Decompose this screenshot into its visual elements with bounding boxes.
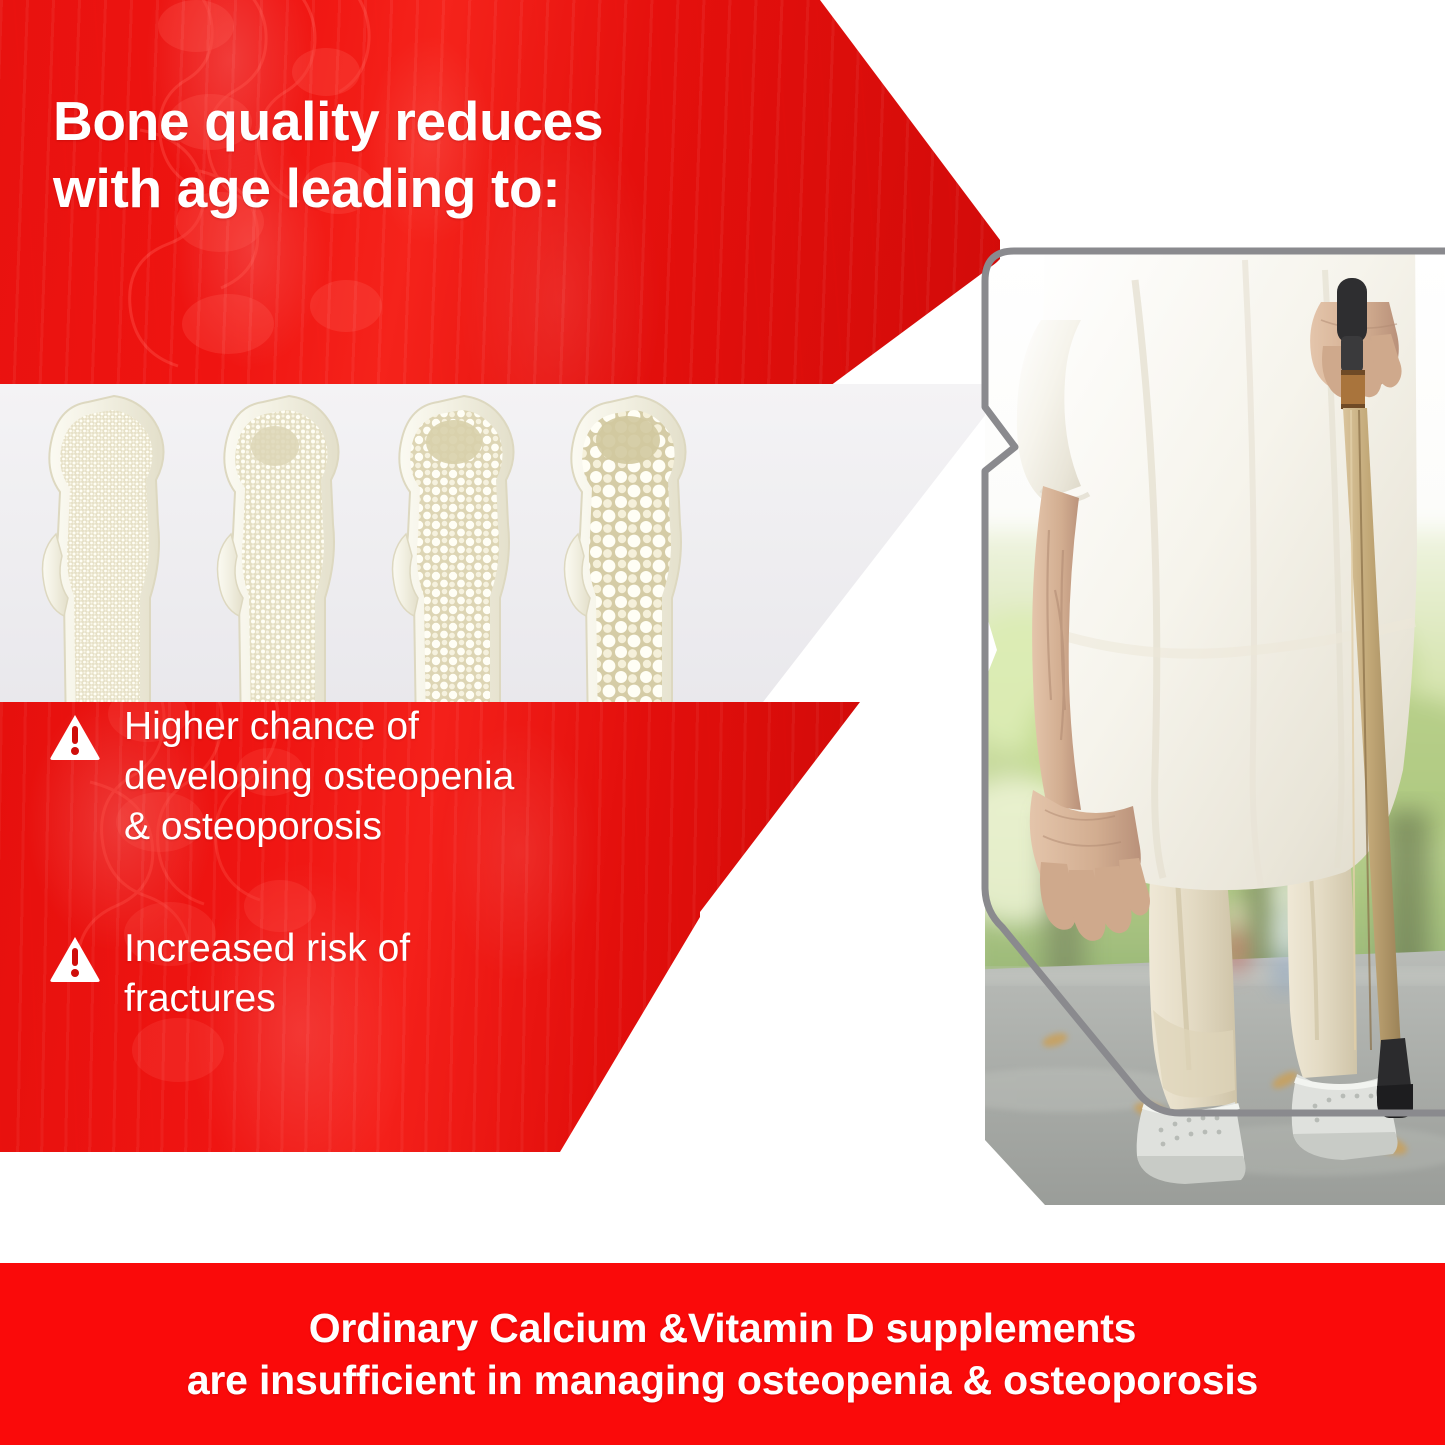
elderly-person-with-walking-cane-photo — [985, 250, 1445, 1205]
list-item-label: Increased risk of fractures — [124, 924, 410, 1024]
list-item: Increased risk of fractures — [0, 924, 720, 1024]
list-item: Higher chance of developing osteopenia &… — [0, 702, 720, 852]
risk-bullet-list: Higher chance of developing osteopenia &… — [0, 702, 720, 1070]
photo-panel — [985, 250, 1445, 1205]
femur-stage-3-osteopenia — [380, 384, 570, 706]
infographic-canvas: Bone quality reduces with age leading to… — [0, 0, 1445, 1445]
bottom-banner: Ordinary Calcium &Vitamin D supplements … — [0, 1263, 1445, 1445]
femur-stage-1-healthy-dense-bone — [30, 384, 220, 706]
page-title: Bone quality reduces with age leading to… — [53, 88, 753, 222]
warning-triangle-icon — [48, 712, 102, 762]
femur-stage-2-mild-bone-loss — [205, 384, 395, 706]
banner-text: Ordinary Calcium &Vitamin D supplements … — [187, 1302, 1258, 1407]
warning-triangle-icon — [48, 934, 102, 984]
list-item-label: Higher chance of developing osteopenia &… — [124, 702, 514, 852]
femur-stage-4-osteoporosis — [552, 384, 742, 706]
bone-density-illustration-strip — [0, 384, 1000, 706]
